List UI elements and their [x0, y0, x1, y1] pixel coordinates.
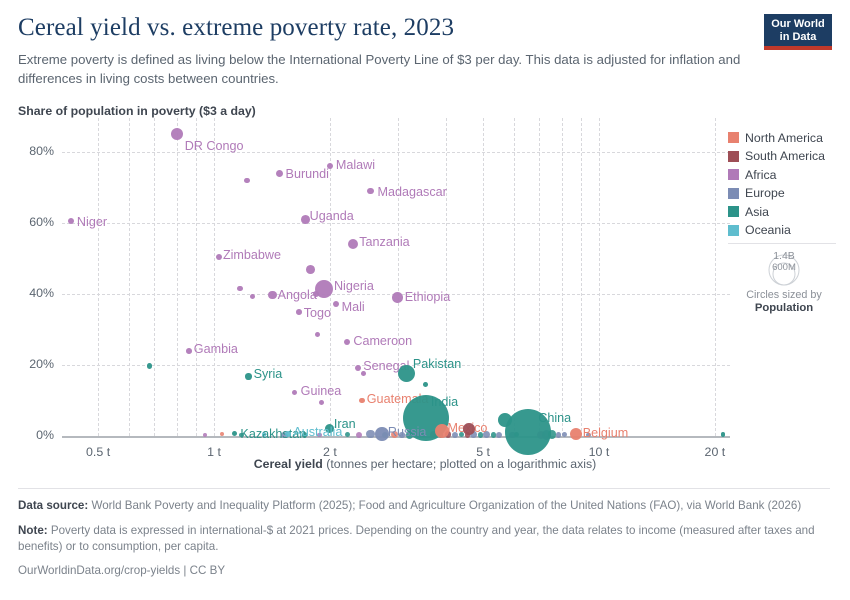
- size-legend-caption-text: Circles sized by: [746, 289, 822, 301]
- x-axis-title: Cereal yield (tonnes per hectare; plotte…: [0, 457, 850, 471]
- data-point[interactable]: [345, 432, 350, 437]
- size-legend-caption-bold: Population: [755, 302, 813, 314]
- x-gridline: [446, 118, 447, 436]
- x-gridline: [398, 118, 399, 436]
- owid-logo[interactable]: Our World in Data: [764, 14, 832, 50]
- point-label-guinea: Guinea: [301, 385, 342, 398]
- point-label-pakistan: Pakistan: [413, 358, 461, 371]
- point-label-nigeria: Nigeria: [334, 280, 374, 293]
- size-legend-small-label: 600M: [728, 262, 840, 273]
- data-point[interactable]: [463, 423, 475, 435]
- legend-item-north-america[interactable]: North America: [728, 130, 840, 145]
- x-axis-title-rest: (tonnes per hectare; plotted on a logari…: [323, 457, 596, 471]
- point-label-ethiopia: Ethiopia: [405, 291, 451, 304]
- size-legend-big-label: 1.4B: [728, 250, 840, 262]
- size-legend-caption: Circles sized by Population: [728, 289, 840, 315]
- y-gridline: [62, 152, 730, 153]
- data-point[interactable]: [313, 291, 319, 297]
- x-gridline: [581, 118, 582, 436]
- legend-label: Oceania: [745, 223, 791, 237]
- data-point-burundi[interactable]: [276, 170, 283, 177]
- legend-swatch-icon: [728, 151, 739, 162]
- legend-swatch-icon: [728, 188, 739, 199]
- point-label-dr-congo: DR Congo: [185, 140, 244, 153]
- point-label-syria: Syria: [254, 368, 283, 381]
- point-label-malawi: Malawi: [336, 159, 375, 172]
- x-gridline: [562, 118, 563, 436]
- x-gridline: [483, 118, 484, 436]
- point-label-uganda: Uganda: [310, 210, 354, 223]
- data-point-guatemala[interactable]: [359, 398, 365, 404]
- chart-note-text: Poverty data is expressed in internation…: [18, 524, 815, 553]
- legend-item-south-america[interactable]: South America: [728, 149, 840, 164]
- x-gridline: [154, 118, 155, 436]
- data-source: Data source: World Bank Poverty and Ineq…: [18, 498, 830, 514]
- data-point-madagascar[interactable]: [367, 188, 374, 195]
- y-axis-tick: 40%: [8, 286, 54, 300]
- owid-link[interactable]: OurWorldinData.org/crop-yields | CC BY: [18, 564, 830, 577]
- data-point-russia[interactable]: [375, 427, 389, 441]
- data-point-gambia[interactable]: [186, 348, 192, 354]
- legend-label: South America: [745, 149, 825, 163]
- x-gridline: [98, 118, 99, 436]
- point-label-madagascar: Madagascar: [378, 186, 447, 199]
- legend-swatch-icon: [728, 169, 739, 180]
- continent-legend[interactable]: North AmericaSouth AmericaAfricaEuropeAs…: [728, 130, 840, 242]
- data-point-syria[interactable]: [245, 373, 251, 379]
- data-point[interactable]: [306, 265, 315, 274]
- data-point[interactable]: [423, 382, 428, 387]
- legend-item-europe[interactable]: Europe: [728, 186, 840, 201]
- data-point-senegal[interactable]: [355, 365, 361, 371]
- page-title: Cereal yield vs. extreme poverty rate, 2…: [18, 14, 454, 42]
- logo-line-1: Our World: [764, 18, 832, 31]
- data-point[interactable]: [366, 430, 374, 438]
- point-label-gambia: Gambia: [194, 343, 238, 356]
- legend-divider: [728, 243, 836, 244]
- legend-label: North America: [745, 131, 823, 145]
- chart-footer: Data source: World Bank Poverty and Ineq…: [18, 488, 830, 577]
- x-gridline: [514, 118, 515, 436]
- data-point-cameroon[interactable]: [344, 339, 350, 345]
- point-label-angola: Angola: [278, 289, 317, 302]
- x-gridline: [177, 118, 178, 436]
- legend-item-asia[interactable]: Asia: [728, 204, 840, 219]
- chart-note-label: Note:: [18, 524, 48, 537]
- data-point[interactable]: [496, 432, 502, 438]
- point-label-niger: Niger: [77, 216, 107, 229]
- x-gridline: [214, 118, 215, 436]
- data-point[interactable]: [721, 432, 726, 437]
- logo-line-2: in Data: [764, 31, 832, 44]
- x-gridline: [715, 118, 716, 436]
- data-point-dr-congo[interactable]: [171, 128, 183, 140]
- y-axis-tick: 20%: [8, 357, 54, 371]
- point-label-australia: Australia: [293, 426, 342, 439]
- legend-label: Europe: [745, 186, 785, 200]
- scatter-plot[interactable]: Share of population in poverty ($3 a day…: [0, 100, 850, 470]
- y-axis-title: Share of population in poverty ($3 a day…: [18, 104, 256, 118]
- data-point[interactable]: [250, 294, 255, 299]
- data-point-guinea[interactable]: [292, 390, 298, 396]
- data-source-text: World Bank Poverty and Inequality Platfo…: [88, 499, 801, 512]
- legend-label: Asia: [745, 205, 769, 219]
- x-gridline: [196, 118, 197, 436]
- data-point-mali[interactable]: [333, 301, 339, 307]
- data-point[interactable]: [498, 413, 512, 427]
- legend-item-oceania[interactable]: Oceania: [728, 223, 840, 238]
- legend-swatch-icon: [728, 225, 739, 236]
- data-point[interactable]: [237, 286, 243, 292]
- legend-item-africa[interactable]: Africa: [728, 167, 840, 182]
- point-label-zimbabwe: Zimbabwe: [223, 249, 281, 262]
- y-axis-tick: 80%: [8, 144, 54, 158]
- y-axis-tick: 60%: [8, 215, 54, 229]
- point-label-belgium: Belgium: [583, 427, 629, 440]
- x-axis-title-bold: Cereal yield: [254, 457, 323, 471]
- data-point-malawi[interactable]: [327, 163, 333, 169]
- size-legend: 1.4B 600M Circles sized by Population: [728, 248, 840, 315]
- data-point-belgium[interactable]: [570, 428, 582, 440]
- data-point[interactable]: [244, 178, 250, 184]
- chart-note: Note: Poverty data is expressed in inter…: [18, 523, 830, 555]
- legend-swatch-icon: [728, 132, 739, 143]
- data-point-tanzania[interactable]: [348, 239, 358, 249]
- point-label-india: India: [431, 396, 458, 409]
- data-point-ethiopia[interactable]: [392, 292, 403, 303]
- point-label-burundi: Burundi: [286, 168, 329, 181]
- point-label-tanzania: Tanzania: [359, 236, 409, 249]
- data-point[interactable]: [356, 432, 362, 438]
- point-label-russia: Russia: [388, 426, 427, 439]
- x-gridline: [129, 118, 130, 436]
- legend-label: Africa: [745, 168, 776, 182]
- point-label-china: China: [538, 412, 571, 425]
- data-point[interactable]: [147, 363, 153, 369]
- point-label-mali: Mali: [342, 301, 365, 314]
- y-axis-tick: 0%: [8, 428, 54, 442]
- x-gridline: [599, 118, 600, 436]
- x-gridline: [539, 118, 540, 436]
- point-label-togo: Togo: [304, 307, 331, 320]
- page-subtitle: Extreme poverty is defined as living bel…: [18, 50, 748, 88]
- data-point-togo[interactable]: [296, 309, 302, 315]
- data-point-angola[interactable]: [268, 291, 276, 299]
- data-source-label: Data source:: [18, 499, 88, 512]
- legend-swatch-icon: [728, 206, 739, 217]
- data-point[interactable]: [319, 400, 324, 405]
- data-point-zimbabwe[interactable]: [216, 254, 222, 260]
- point-label-cameroon: Cameroon: [353, 335, 412, 348]
- data-point[interactable]: [315, 332, 320, 337]
- data-point[interactable]: [556, 432, 562, 438]
- footer-divider: [18, 488, 830, 489]
- y-gridline: [62, 223, 730, 224]
- data-point[interactable]: [361, 371, 366, 376]
- data-point-mexico[interactable]: [435, 424, 449, 438]
